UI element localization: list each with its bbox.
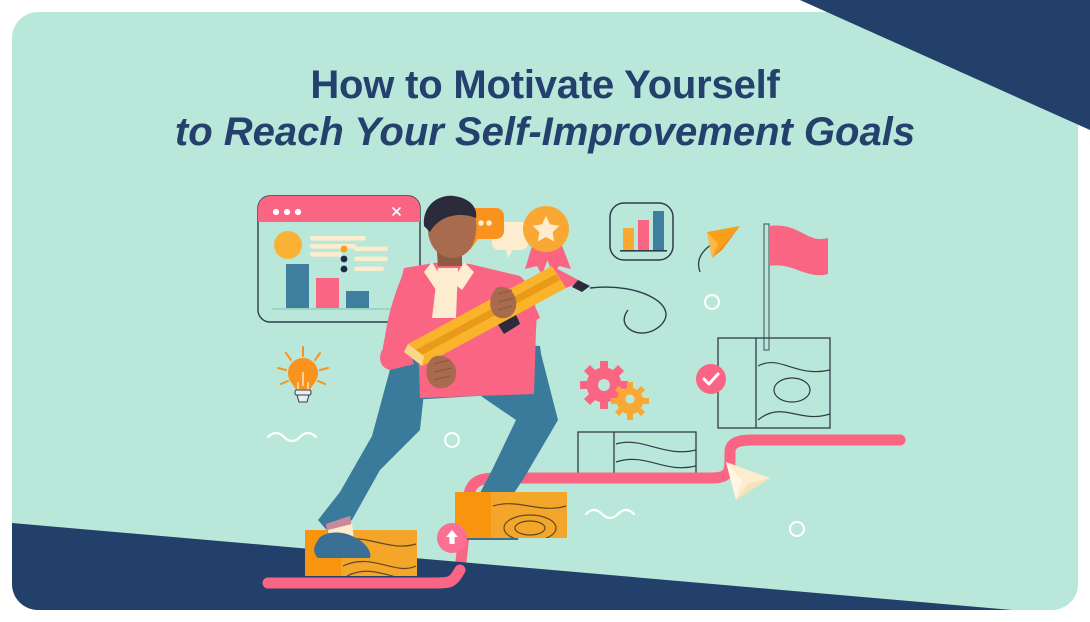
icon-bar-3: [653, 211, 664, 250]
check-badge: [696, 364, 726, 394]
flag-pole: [764, 224, 769, 350]
paper-plane-orange: [707, 226, 740, 258]
award-badge: [523, 206, 571, 275]
illustration-canvas: How to Motivate Yourself to Reach Your S…: [0, 0, 1090, 622]
title-line-1: How to Motivate Yourself: [0, 62, 1090, 108]
goal-flag: [764, 224, 828, 350]
bar-3: [346, 291, 369, 309]
chart-icon: [610, 203, 673, 260]
bar-1: [286, 264, 309, 309]
page-title: How to Motivate Yourself to Reach Your S…: [0, 62, 1090, 156]
up-arrow-badge: [437, 523, 467, 553]
lightbulb-icon: [278, 347, 328, 402]
window-dots: [273, 209, 301, 215]
paper-plane-cream: [726, 462, 770, 500]
bar-2: [316, 278, 339, 309]
step-block-upper: [455, 492, 567, 541]
icon-bar-1: [623, 228, 634, 250]
avatar: [274, 231, 302, 259]
icon-bar-2: [638, 220, 649, 250]
flag-cloth: [769, 226, 828, 276]
swirl-line: [590, 287, 666, 333]
title-line-2: to Reach Your Self-Improvement Goals: [0, 108, 1090, 156]
flag-base-block: [718, 338, 830, 428]
